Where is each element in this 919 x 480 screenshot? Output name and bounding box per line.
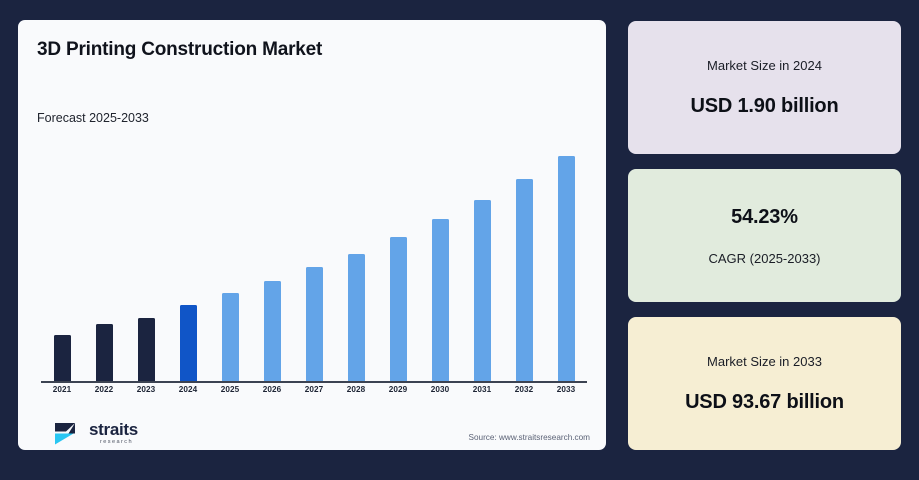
x-axis-line	[41, 381, 587, 383]
x-axis-tick-labels: 2021202220232024202520262027202820292030…	[41, 385, 587, 394]
stat-card-market-size-2024: Market Size in 2024USD 1.90 billion	[628, 21, 901, 154]
bar-column-2022	[83, 140, 125, 381]
bar-column-2033	[545, 140, 587, 381]
x-tick-2032: 2032	[503, 385, 545, 394]
bar-series	[41, 140, 587, 381]
chart-subtitle: Forecast 2025-2033	[37, 111, 149, 125]
stat-card-cagr: 54.23%CAGR (2025-2033)	[628, 169, 901, 302]
x-tick-2023: 2023	[125, 385, 167, 394]
stat-card-value: 54.23%	[731, 206, 798, 229]
bar-column-2030	[419, 140, 461, 381]
bar-column-2027	[293, 140, 335, 381]
x-tick-2022: 2022	[83, 385, 125, 394]
stat-card-market-size-2033: Market Size in 2033USD 93.67 billion	[628, 317, 901, 450]
x-tick-2030: 2030	[419, 385, 461, 394]
bar-2023	[138, 318, 155, 381]
bar-column-2021	[41, 140, 83, 381]
bar-2024	[180, 305, 197, 381]
x-tick-2028: 2028	[335, 385, 377, 394]
bar-2021	[54, 335, 71, 381]
stat-card-label: Market Size in 2033	[707, 354, 822, 369]
x-tick-2021: 2021	[41, 385, 83, 394]
bar-column-2032	[503, 140, 545, 381]
bar-2032	[516, 179, 533, 381]
bar-2031	[474, 200, 491, 381]
stat-card-value: USD 93.67 billion	[685, 391, 844, 414]
bar-column-2026	[251, 140, 293, 381]
stat-card-value: USD 1.90 billion	[691, 95, 839, 118]
bar-2028	[348, 254, 365, 381]
bar-2033	[558, 156, 575, 381]
bar-column-2024	[167, 140, 209, 381]
x-tick-2033: 2033	[545, 385, 587, 394]
x-tick-2031: 2031	[461, 385, 503, 394]
bar-2030	[432, 219, 449, 381]
bar-column-2028	[335, 140, 377, 381]
bar-2025	[222, 293, 239, 381]
straits-research-logo: straits research	[54, 420, 138, 447]
stat-card-label: Market Size in 2024	[707, 58, 822, 73]
chart-panel: 3D Printing Construction Market Forecast…	[18, 20, 606, 450]
bar-2027	[306, 267, 323, 381]
bar-2029	[390, 237, 407, 381]
bar-column-2025	[209, 140, 251, 381]
bar-2026	[264, 281, 281, 381]
page-title: 3D Printing Construction Market	[37, 39, 322, 61]
infographic-page: 3D Printing Construction Market Forecast…	[0, 0, 919, 480]
straits-research-arrow-logo-icon	[54, 420, 84, 447]
x-tick-2029: 2029	[377, 385, 419, 394]
logo-name: straits	[89, 421, 138, 438]
stat-card-label: CAGR (2025-2033)	[709, 251, 821, 266]
bar-column-2023	[125, 140, 167, 381]
x-tick-2027: 2027	[293, 385, 335, 394]
x-tick-2026: 2026	[251, 385, 293, 394]
bar-column-2031	[461, 140, 503, 381]
logo-wordmark: straits research	[89, 421, 138, 446]
x-tick-2024: 2024	[167, 385, 209, 394]
logo-tagline: research	[100, 440, 138, 446]
x-tick-2025: 2025	[209, 385, 251, 394]
source-attribution: Source: www.straitsresearch.com	[469, 433, 591, 442]
bar-chart: 2021202220232024202520262027202820292030…	[41, 140, 587, 383]
stat-card-list: Market Size in 2024USD 1.90 billion54.23…	[628, 21, 901, 450]
bar-2022	[96, 324, 113, 381]
bar-column-2029	[377, 140, 419, 381]
